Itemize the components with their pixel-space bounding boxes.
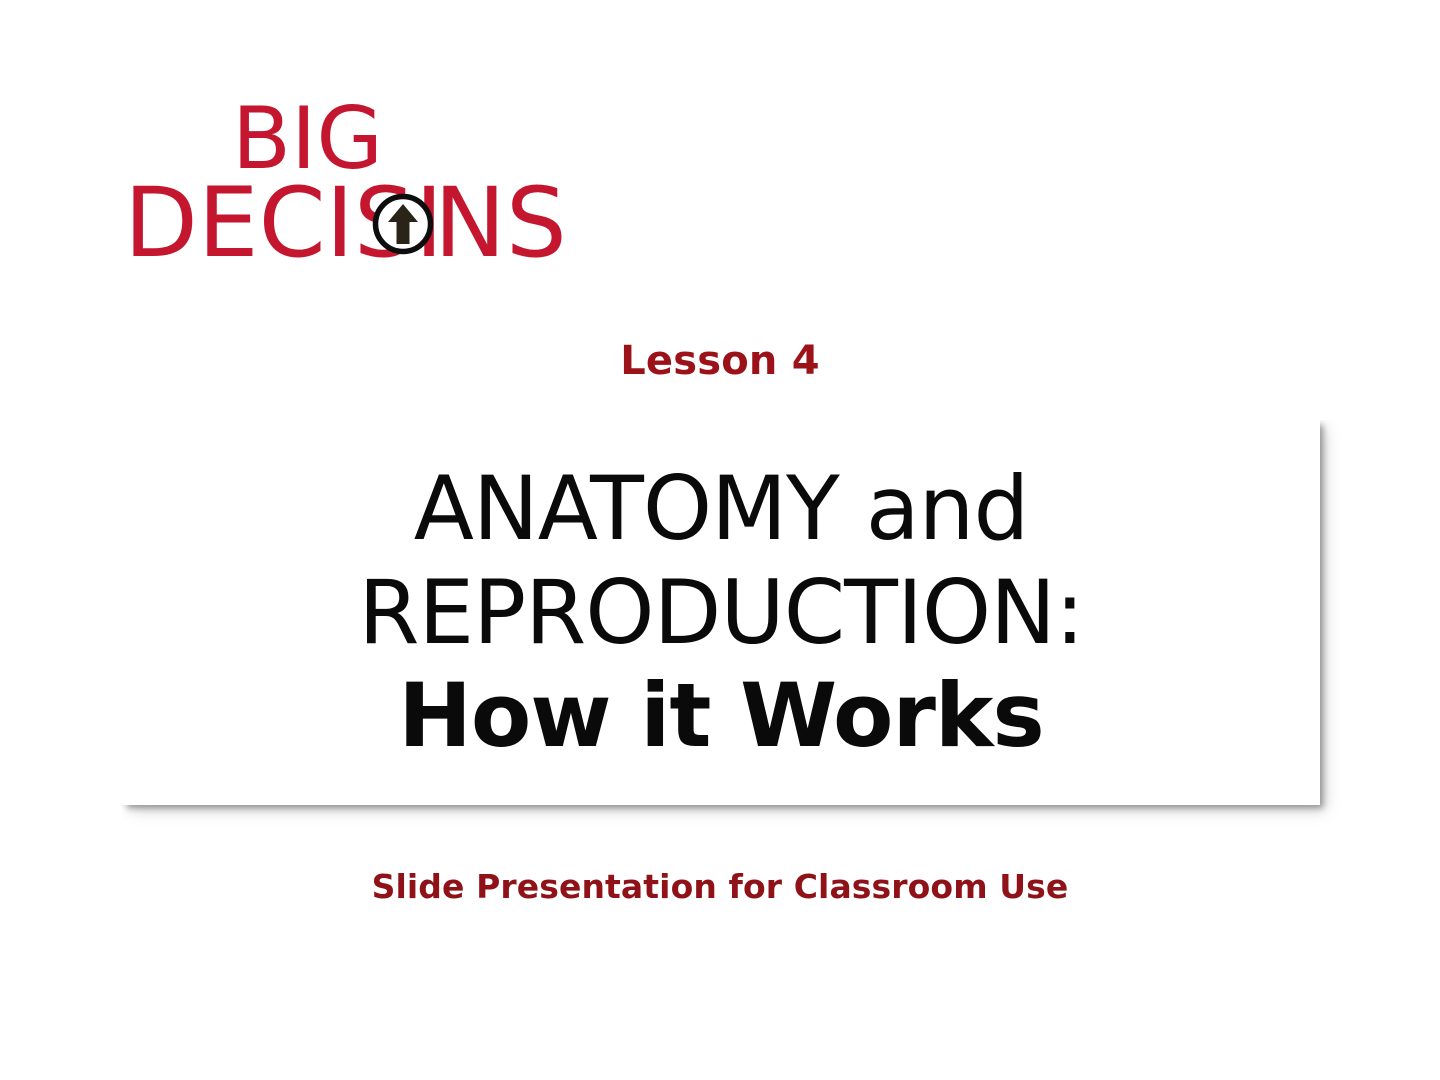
big-decisions-logo: BIG DECISI NS (124, 96, 544, 266)
circle-up-arrow-icon (376, 197, 431, 252)
slide-title: ANATOMY and REPRODUCTION: How it Works (122, 420, 1320, 805)
logo-artwork: BIG DECISI NS (124, 96, 544, 266)
title-line-1: ANATOMY and (414, 457, 1029, 561)
presentation-usage-note: Slide Presentation for Classroom Use (0, 869, 1440, 905)
title-line-3: How it Works (398, 664, 1044, 768)
title-line-2: REPRODUCTION: (358, 561, 1083, 665)
lesson-number-label: Lesson 4 (0, 339, 1440, 383)
title-slide: BIG DECISI NS Lesson 4 ANATOMY and REPRO… (0, 0, 1440, 1080)
logo-word-ns: NS (434, 167, 567, 279)
